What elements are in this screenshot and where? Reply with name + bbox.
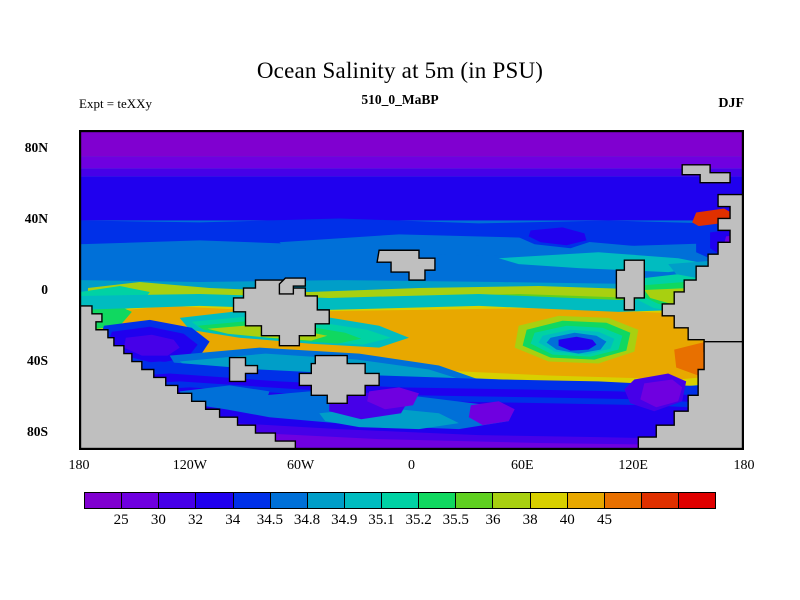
colorbar-cell (345, 493, 382, 508)
axis-tick (79, 398, 80, 399)
colorbar-cell (493, 493, 530, 508)
axis-tick (320, 449, 321, 450)
colorbar-cell (308, 493, 345, 508)
colorbar-cell (605, 493, 642, 508)
axis-tick (431, 449, 432, 450)
axis-tick (79, 380, 80, 381)
season-label: DJF (718, 96, 744, 112)
axis-tick (653, 130, 654, 131)
colorbar-cell (196, 493, 233, 508)
axis-tick (671, 130, 672, 131)
salinity-figure: Ocean Salinity at 5m (in PSU) 510_0_MaBP… (0, 0, 800, 600)
colorbar-cell (122, 493, 159, 508)
axis-tick (727, 449, 728, 450)
axis-tick (376, 449, 377, 450)
experiment-label: Expt = teXXy (79, 96, 152, 112)
colorbar-cell (85, 493, 122, 508)
axis-tick (449, 130, 450, 131)
axis-tick (228, 449, 229, 450)
axis-tick (80, 130, 81, 131)
axis-tick (339, 449, 340, 450)
colorbar-tick-label: 38 (523, 512, 538, 529)
colorbar-tick-label: 32 (188, 512, 203, 529)
axis-tick (743, 184, 744, 185)
x-axis-label: 60W (287, 458, 314, 474)
axis-tick (449, 449, 450, 450)
colorbar (84, 492, 716, 509)
page-title: Ocean Salinity at 5m (in PSU) (0, 58, 800, 84)
axis-tick (357, 130, 358, 131)
axis-tick (79, 415, 80, 416)
axis-tick (79, 327, 80, 328)
axis-tick (743, 202, 744, 203)
salinity-contour-field (80, 131, 743, 449)
axis-tick (191, 449, 192, 450)
axis-tick (542, 449, 543, 450)
colorbar-cell (234, 493, 271, 508)
axis-tick (79, 238, 80, 239)
colorbar-tick-label: 30 (151, 512, 166, 529)
axis-tick (743, 327, 744, 328)
y-axis-label: 80N (25, 140, 48, 156)
axis-tick (743, 167, 744, 168)
colorbar-tick-label: 35.1 (368, 512, 394, 529)
axis-tick (634, 130, 635, 131)
axis-tick (283, 130, 284, 131)
axis-tick (302, 130, 303, 131)
colorbar-cell (568, 493, 605, 508)
axis-tick (743, 362, 744, 363)
axis-tick (743, 380, 744, 381)
axis-tick (523, 449, 524, 450)
axis-tick (98, 130, 99, 131)
axis-tick (690, 130, 691, 131)
axis-tick (560, 130, 561, 131)
axis-tick (560, 449, 561, 450)
axis-tick (616, 449, 617, 450)
axis-tick (690, 449, 691, 450)
colorbar-tick-label: 34.5 (257, 512, 283, 529)
x-axis-label: 0 (408, 458, 415, 474)
axis-tick (79, 344, 80, 345)
y-axis-label: 80S (27, 424, 48, 440)
axis-tick (79, 149, 80, 150)
axis-tick (117, 449, 118, 450)
axis-tick (743, 433, 744, 434)
axis-tick (743, 255, 744, 256)
axis-tick (246, 449, 247, 450)
colorbar-tick-label: 36 (485, 512, 500, 529)
axis-tick (79, 291, 80, 292)
colorbar-tick-label: 35.2 (405, 512, 431, 529)
axis-tick (743, 415, 744, 416)
axis-tick (339, 130, 340, 131)
colorbar-tick-label: 45 (597, 512, 612, 529)
axis-tick (79, 309, 80, 310)
axis-tick (172, 130, 173, 131)
y-axis-label: 40N (25, 211, 48, 227)
axis-tick (542, 130, 543, 131)
axis-tick (413, 130, 414, 131)
axis-tick (579, 449, 580, 450)
axis-tick (154, 130, 155, 131)
axis-tick (135, 130, 136, 131)
axis-tick (671, 449, 672, 450)
axis-tick (154, 449, 155, 450)
axis-tick (468, 449, 469, 450)
colorbar-tick-label: 40 (560, 512, 575, 529)
axis-tick (743, 344, 744, 345)
axis-tick (616, 130, 617, 131)
axis-tick (413, 449, 414, 450)
x-axis-label: 120E (618, 458, 648, 474)
x-axis-label: 180 (734, 458, 755, 474)
y-axis-label: 0 (41, 282, 48, 298)
axis-tick (523, 130, 524, 131)
axis-tick (79, 202, 80, 203)
map-plot-area (79, 130, 744, 450)
axis-tick (743, 309, 744, 310)
axis-tick (579, 130, 580, 131)
colorbar-cell (382, 493, 419, 508)
axis-tick (486, 130, 487, 131)
colorbar-tick-label: 34.8 (294, 512, 320, 529)
x-axis-label: 60E (511, 458, 534, 474)
axis-tick (653, 449, 654, 450)
axis-tick (246, 130, 247, 131)
axis-tick (431, 130, 432, 131)
axis-tick (743, 220, 744, 221)
axis-tick (265, 130, 266, 131)
axis-tick (743, 398, 744, 399)
colorbar-tick-label: 34 (225, 512, 240, 529)
axis-tick (743, 149, 744, 150)
x-axis-label: 120W (173, 458, 207, 474)
colorbar-cell (679, 493, 715, 508)
axis-tick (79, 362, 80, 363)
axis-tick (283, 449, 284, 450)
axis-tick (743, 131, 744, 132)
axis-tick (743, 291, 744, 292)
axis-tick (743, 238, 744, 239)
axis-tick (209, 449, 210, 450)
colorbar-cell (456, 493, 493, 508)
axis-tick (117, 130, 118, 131)
colorbar-cell (419, 493, 456, 508)
axis-tick (265, 449, 266, 450)
axis-tick (79, 220, 80, 221)
axis-tick (79, 273, 80, 274)
colorbar-tick-label: 25 (114, 512, 129, 529)
axis-tick (376, 130, 377, 131)
axis-tick (468, 130, 469, 131)
axis-tick (228, 130, 229, 131)
axis-tick (634, 449, 635, 450)
axis-tick (79, 433, 80, 434)
axis-tick (79, 255, 80, 256)
axis-tick (708, 130, 709, 131)
colorbar-labels: 2530323434.534.834.935.135.235.536384045 (0, 512, 800, 534)
axis-tick (727, 130, 728, 131)
axis-tick (597, 449, 598, 450)
axis-tick (320, 130, 321, 131)
colorbar-tick-label: 34.9 (331, 512, 357, 529)
axis-tick (79, 167, 80, 168)
axis-tick (79, 131, 80, 132)
colorbar-tick-label: 35.5 (443, 512, 469, 529)
colorbar-cell (159, 493, 196, 508)
axis-tick (394, 449, 395, 450)
axis-tick (135, 449, 136, 450)
axis-tick (597, 130, 598, 131)
axis-tick (357, 449, 358, 450)
colorbar-cell (642, 493, 679, 508)
axis-tick (98, 449, 99, 450)
axis-tick (209, 130, 210, 131)
axis-tick (79, 184, 80, 185)
axis-tick (80, 449, 81, 450)
colorbar-cell (531, 493, 568, 508)
axis-tick (191, 130, 192, 131)
axis-tick (486, 449, 487, 450)
axis-tick (743, 273, 744, 274)
y-axis-label: 40S (27, 353, 48, 369)
axis-tick (505, 449, 506, 450)
axis-tick (505, 130, 506, 131)
axis-tick (302, 449, 303, 450)
x-axis-label: 180 (69, 458, 90, 474)
colorbar-cell (271, 493, 308, 508)
axis-tick (394, 130, 395, 131)
axis-tick (172, 449, 173, 450)
axis-tick (708, 449, 709, 450)
